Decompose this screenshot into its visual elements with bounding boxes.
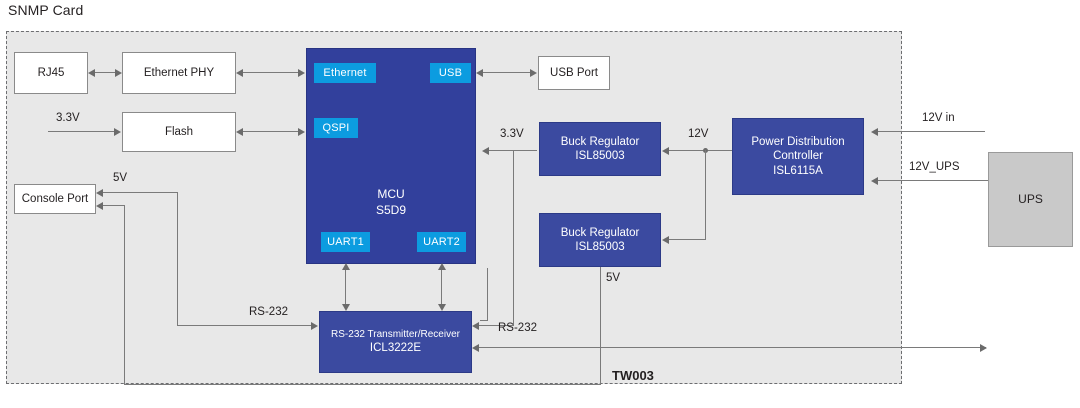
block-pdc-line2: Controller (773, 149, 823, 163)
block-pdc-line1: Power Distribution (751, 135, 844, 149)
label-pdc-out-12v: 12V (688, 128, 708, 140)
arrow-uart2-down (438, 304, 446, 311)
block-buck-regulator-2[interactable]: Buck Regulator ISL85003 (539, 213, 661, 267)
block-buck-regulator-1[interactable]: Buck Regulator ISL85003 (539, 122, 661, 176)
wire-rs232-left (177, 325, 312, 326)
block-rs232-line2: ICL3222E (370, 341, 421, 355)
arrow-into-ups (980, 344, 987, 352)
label-ext-12v-ups: 12V_UPS (909, 161, 960, 173)
arrow-12v-in (871, 128, 878, 136)
label-buck2-out-5v: 5V (606, 272, 620, 284)
wire-rs232-to-ups (479, 347, 986, 348)
block-flash[interactable]: Flash (122, 112, 236, 152)
arrow-flash-mcu-right (298, 128, 305, 136)
arrow-flash-mcu-left (236, 128, 243, 136)
mcu-peripheral-usb-label: USB (439, 67, 462, 79)
diagram-canvas: SNMP Card TW003 RJ45 Ethernet PHY Flash … (0, 0, 1080, 408)
block-rs232-line1: RS-232 Transmitter/Receiver (331, 329, 460, 342)
mcu-peripheral-qspi-label: QSPI (322, 122, 349, 134)
label-mcu-supply: 3.3V (500, 128, 524, 140)
arrow-uart1-up (342, 263, 350, 270)
wire-phy-mcu-ethernet (243, 72, 299, 73)
block-power-distribution-controller[interactable]: Power Distribution Controller ISL6115A (732, 118, 864, 195)
block-rs232-transceiver[interactable]: RS-232 Transmitter/Receiver ICL3222E (319, 311, 472, 373)
block-ethernet-phy-label: Ethernet PHY (144, 66, 214, 80)
page-title: SNMP Card (8, 2, 83, 18)
block-console-port[interactable]: Console Port (14, 184, 96, 214)
mcu-peripheral-uart1[interactable]: UART1 (321, 232, 370, 252)
wire-12v-ups (878, 180, 988, 181)
block-mcu-label: MCU S5D9 (307, 187, 475, 218)
arrow-33v-flash (114, 128, 121, 136)
wire-5v-bottom-rail (124, 384, 601, 385)
mcu-peripheral-uart2[interactable]: UART2 (417, 232, 466, 252)
arrow-uart1-down (342, 304, 350, 311)
arrow-rj45-phy-right (115, 69, 122, 77)
block-ups[interactable]: UPS (988, 152, 1073, 247)
arrow-usb-right (530, 69, 537, 77)
block-buck-regulator-1-line2: ISL85003 (575, 149, 624, 163)
mcu-peripheral-uart1-label: UART1 (327, 236, 364, 248)
mcu-peripheral-ethernet[interactable]: Ethernet (314, 63, 376, 83)
mcu-peripheral-qspi[interactable]: QSPI (314, 118, 358, 138)
wire-uart1-rs232 (345, 268, 346, 308)
wire-12v-buck2 (669, 239, 706, 240)
arrow-buck1-mcu (482, 147, 489, 155)
arrow-5v-console-upper (96, 189, 103, 197)
block-mcu-line1: MCU (307, 187, 475, 203)
arrow-uart2-up (438, 263, 446, 270)
arrow-phy-mcu-right (298, 69, 305, 77)
arrow-12v-ups (871, 177, 878, 185)
wire-33v-flash (48, 131, 115, 132)
arrow-33v-rs232 (472, 322, 479, 330)
block-rj45[interactable]: RJ45 (14, 52, 88, 94)
wire-rj45-phy (95, 72, 116, 73)
label-flash-supply: 3.3V (56, 112, 80, 124)
block-buck-regulator-2-line1: Buck Regulator (561, 226, 640, 240)
arrow-rs232-right-in (472, 344, 479, 352)
arrow-12v-buck2 (662, 236, 669, 244)
block-flash-label: Flash (165, 125, 193, 139)
wire-mcu-usb-port (483, 72, 531, 73)
wire-flash-mcu-qspi (243, 131, 299, 132)
wire-33v-branch-down (513, 150, 514, 325)
block-rj45-label: RJ45 (38, 66, 65, 80)
wire-pdc-buck1 (669, 150, 732, 151)
arrow-pdc-buck1 (662, 147, 669, 155)
arrow-usb-left (476, 69, 483, 77)
wire-rs232-right-upper (480, 320, 488, 321)
wire-5v-into-console (103, 205, 125, 206)
mcu-peripheral-ethernet-label: Ethernet (323, 67, 366, 79)
wire-console-5v-in (103, 192, 178, 193)
label-rs232-right: RS-232 (498, 322, 537, 334)
label-rs232-left: RS-232 (249, 306, 288, 318)
block-buck-regulator-2-line2: ISL85003 (575, 240, 624, 254)
mcu-peripheral-uart2-label: UART2 (423, 236, 460, 248)
wire-buck2-5v-down (600, 267, 601, 384)
mcu-peripheral-usb[interactable]: USB (430, 63, 471, 83)
block-console-port-label: Console Port (22, 192, 88, 206)
wire-12v-in (878, 131, 985, 132)
block-mcu-line2: S5D9 (307, 203, 475, 219)
label-console-supply: 5V (113, 172, 127, 184)
wire-5v-up-console (124, 205, 125, 385)
block-buck-regulator-1-line1: Buck Regulator (561, 135, 640, 149)
wire-console-rs232-vertical (177, 192, 178, 325)
arrow-phy-mcu-left (236, 69, 243, 77)
block-usb-port-label: USB Port (550, 66, 598, 80)
arrow-rj45-phy-left (88, 69, 95, 77)
wire-uart2-rs232 (441, 268, 442, 308)
arrow-5v-console-lower (96, 202, 103, 210)
wire-rs232-right-upper-vert (487, 268, 488, 320)
arrow-rs232-left-in (311, 322, 318, 330)
block-pdc-line3: ISL6115A (773, 164, 823, 178)
block-ups-label: UPS (1018, 192, 1043, 207)
block-ethernet-phy[interactable]: Ethernet PHY (122, 52, 236, 94)
region-tag-tw003: TW003 (612, 368, 654, 383)
block-mcu[interactable]: MCU S5D9 Ethernet USB QSPI UART1 UART2 (306, 48, 476, 264)
label-ext-12v-in: 12V in (922, 112, 955, 124)
wire-12v-down (705, 150, 706, 239)
block-usb-port[interactable]: USB Port (538, 56, 610, 90)
